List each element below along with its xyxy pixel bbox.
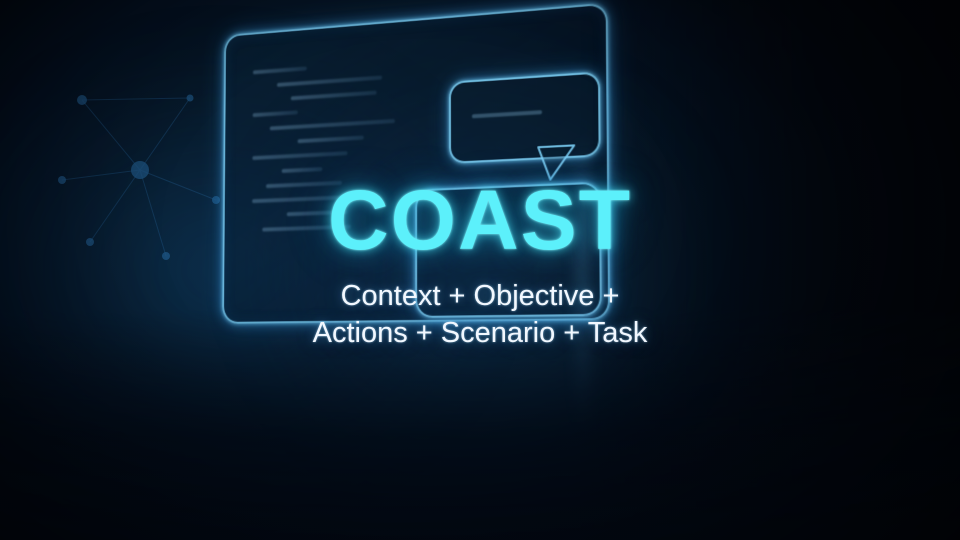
page-title: COAST	[0, 178, 960, 262]
subtitle-block: Context + Objective + Actions + Scenario…	[0, 278, 960, 352]
slide-canvas: COAST Context + Objective + Actions + Sc…	[0, 0, 960, 540]
title-block: COAST Context + Objective + Actions + Sc…	[0, 178, 960, 352]
subtitle-line-1: Context + Objective +	[0, 278, 960, 315]
subtitle-line-2: Actions + Scenario + Task	[0, 315, 960, 352]
